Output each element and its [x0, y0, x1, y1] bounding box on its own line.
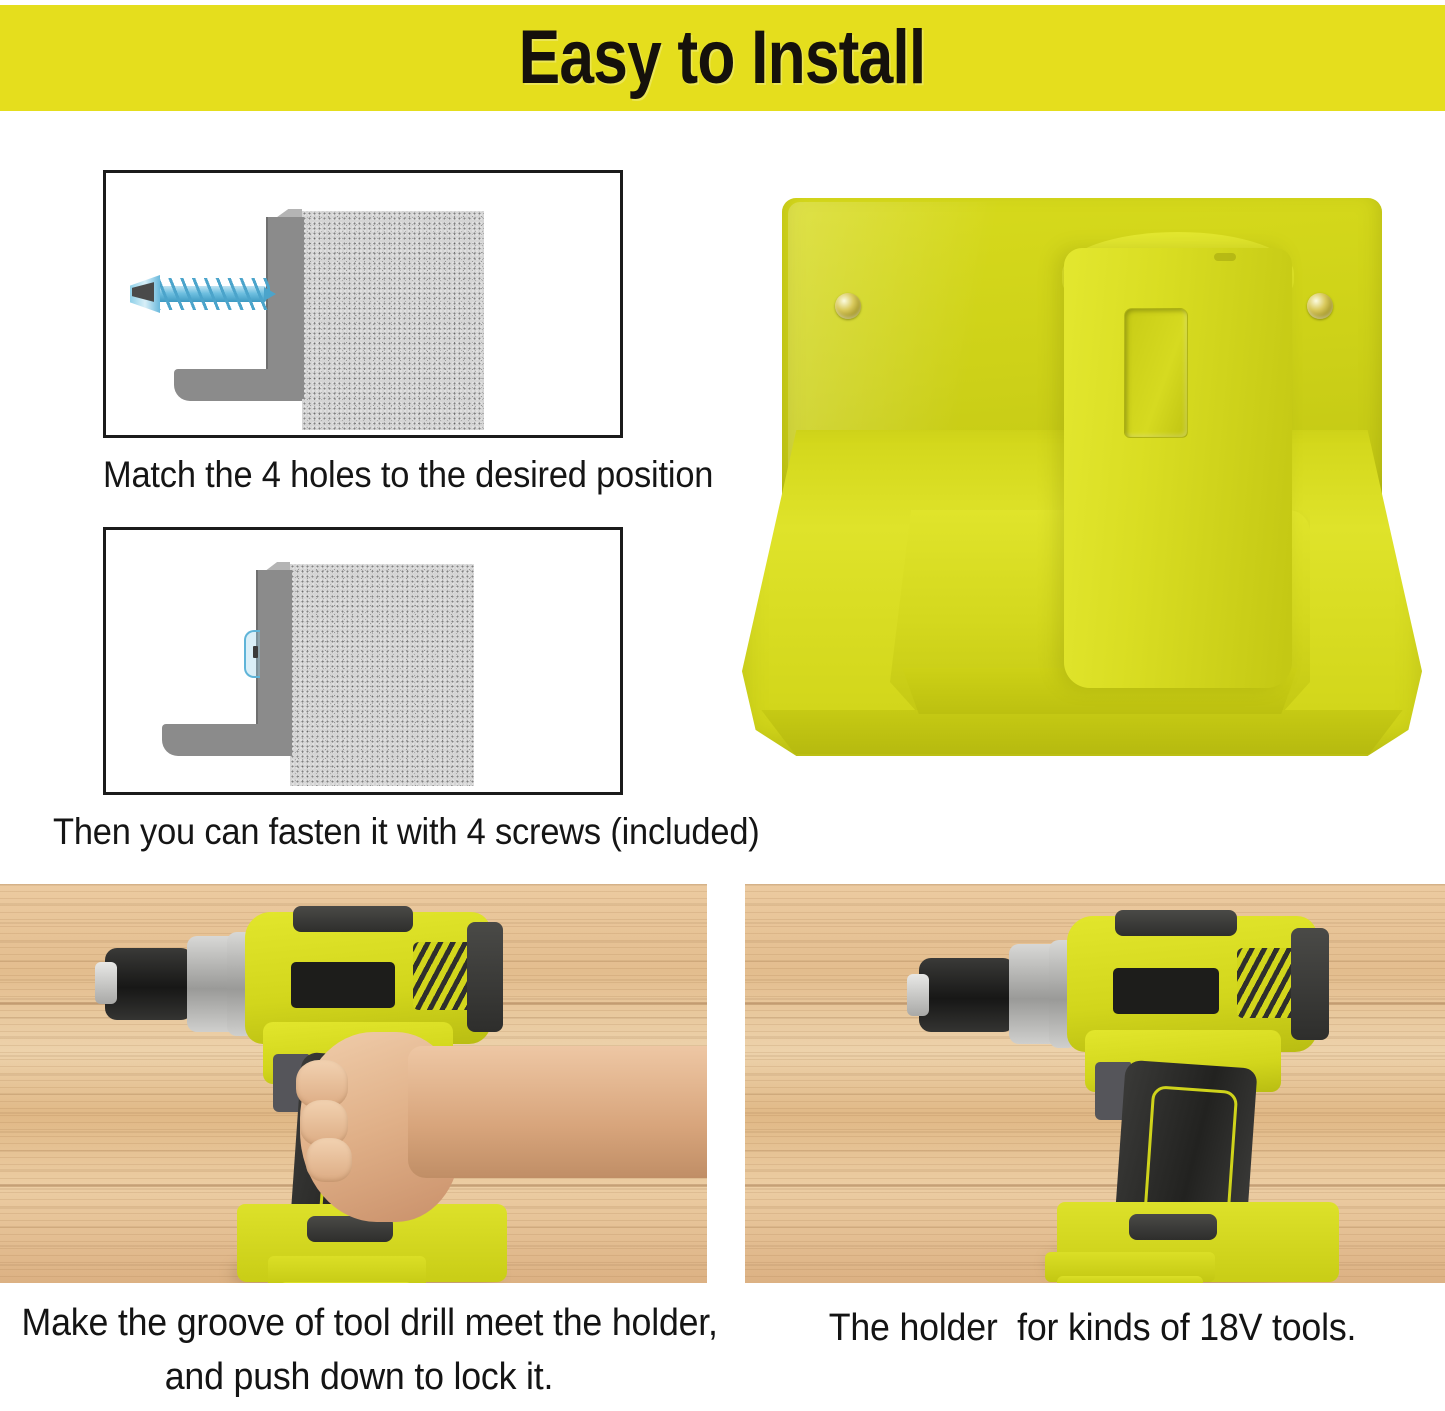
- drill-top-grip: [1115, 910, 1237, 936]
- screw-slot-icon: [253, 646, 258, 658]
- drill-nose: [907, 974, 929, 1016]
- mounted-tool-holder: [268, 1256, 426, 1283]
- drill-label-panel: [291, 962, 395, 1008]
- caption-line-2: and push down to lock it.: [22, 1351, 697, 1405]
- caption-installing-drill: Make the groove of tool drill meet the h…: [0, 1297, 718, 1405]
- drill-label-panel: [1113, 968, 1219, 1014]
- drill-rear-cap: [1291, 928, 1329, 1040]
- bracket-foot: [162, 724, 290, 756]
- install-step-2: Then you can fasten it with 4 screws (in…: [103, 527, 713, 853]
- holder-base-front-edge: [748, 710, 1416, 754]
- mounted-tool-holder-plate: [1057, 1276, 1203, 1283]
- diagram-box-step-1: [103, 170, 623, 438]
- drill-chuck: [919, 958, 1015, 1032]
- screw-hole-top-left: [835, 293, 861, 319]
- fastened-screw: [244, 630, 260, 674]
- holder-vertical-post: [1064, 248, 1292, 688]
- concrete-wall: [290, 564, 474, 786]
- mounting-screw: [118, 277, 288, 313]
- drill-nose: [95, 962, 117, 1004]
- tool-holder-product: [742, 198, 1422, 758]
- forearm: [408, 1046, 707, 1178]
- product-photo: [722, 170, 1437, 790]
- finger: [306, 1138, 352, 1182]
- step-2-caption: Then you can fasten it with 4 screws (in…: [53, 811, 667, 853]
- caption-line-1: The holder for kinds of 18V tools.: [761, 1302, 1424, 1356]
- screw-threads: [152, 278, 270, 310]
- mounted-tool-holder-plate: [280, 1282, 412, 1283]
- header-banner: Easy to Install: [0, 5, 1445, 111]
- post-notch: [1214, 253, 1236, 261]
- screw-head: [130, 275, 160, 313]
- drill-rear-cap: [467, 922, 503, 1032]
- photo-installing-drill: [0, 884, 707, 1283]
- screw-hole-top-right: [1307, 293, 1333, 319]
- install-step-1: Match the 4 holes to the desired positio…: [103, 170, 763, 496]
- battery-slot-tab: [1124, 308, 1188, 438]
- bracket-foot: [174, 369, 302, 401]
- caption-line-1: Make the groove of tool drill meet the h…: [22, 1297, 697, 1351]
- caption-mounted-drill: The holder for kinds of 18V tools.: [740, 1302, 1445, 1356]
- photo-mounted-drill: [745, 884, 1445, 1283]
- cordless-drill: [905, 906, 1375, 1283]
- screw-tip: [264, 287, 276, 301]
- page-title: Easy to Install: [519, 20, 926, 96]
- drill-foot-detail: [1129, 1214, 1217, 1240]
- concrete-wall-right: [302, 211, 484, 430]
- screw-slot-icon: [132, 279, 154, 305]
- drill-top-grip: [293, 906, 413, 932]
- drill-chuck: [105, 948, 193, 1020]
- step-1-caption: Match the 4 holes to the desired positio…: [103, 454, 717, 496]
- diagram-box-step-2: [103, 527, 623, 795]
